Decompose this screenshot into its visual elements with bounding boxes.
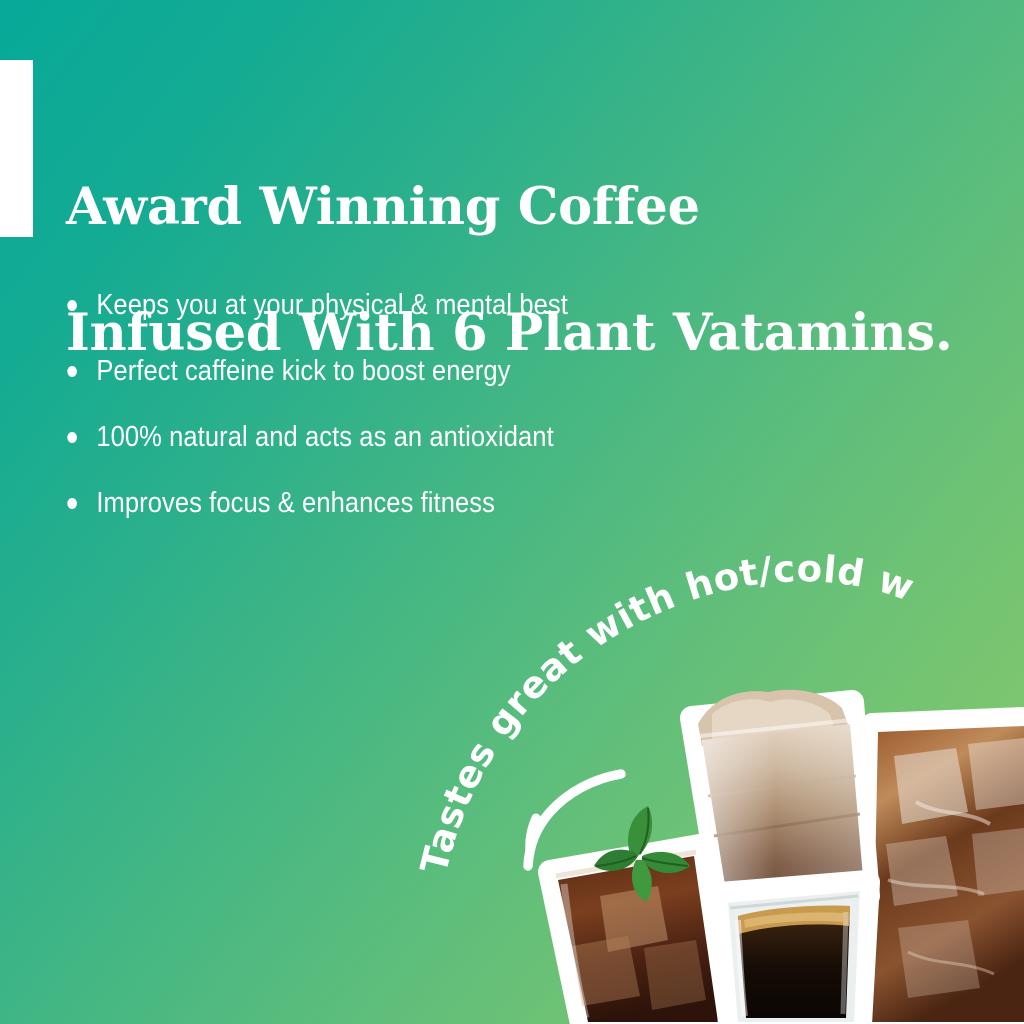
iced-coffee-closeup-photo	[866, 718, 1024, 1024]
drinks-illustration	[516, 684, 1024, 1024]
iced-coffee-mint-photo	[550, 806, 726, 1024]
product-photo-cluster	[516, 684, 1024, 1024]
promo-poster: Award Winning Coffee Infused With 6 Plan…	[0, 0, 1024, 1024]
black-espresso-photo	[720, 882, 868, 1024]
